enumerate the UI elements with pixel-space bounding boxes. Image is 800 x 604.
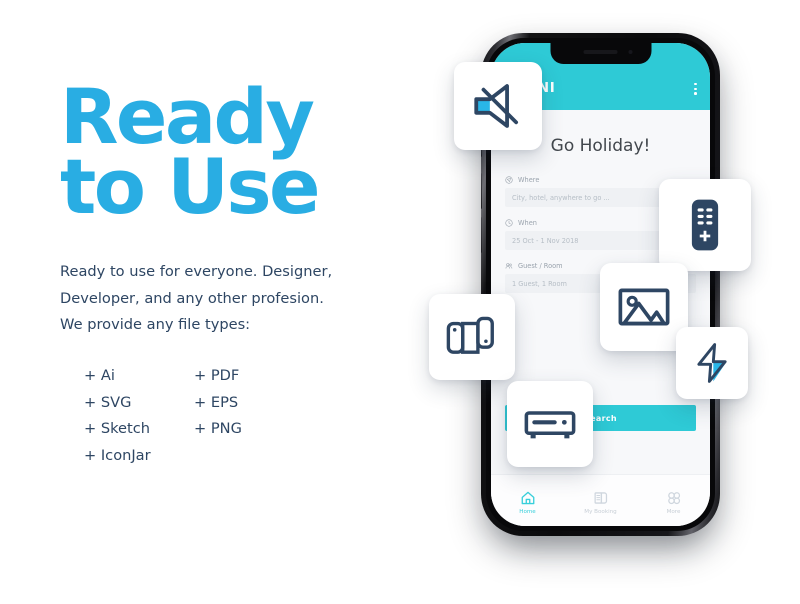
- guest-icon: [505, 262, 513, 270]
- icon-card-flash[interactable]: [676, 327, 748, 399]
- icon-card-image[interactable]: [600, 263, 688, 351]
- file-types-column-right: + PDF + EPS + PNG: [194, 363, 304, 470]
- list-item: + PDF: [194, 363, 304, 390]
- promo-column: Ready to Use Ready to use for everyone. …: [60, 82, 400, 470]
- list-item: + Sketch: [84, 416, 194, 443]
- tab-my-booking-label: My Booking: [584, 509, 617, 515]
- clock-icon: [505, 219, 513, 227]
- list-item: + SVG: [84, 390, 194, 417]
- promo-description: Ready to use for everyone. Designer, Dev…: [60, 259, 400, 339]
- file-types-column-left: + Ai + SVG + Sketch + IconJar: [84, 363, 194, 470]
- list-item: + PNG: [194, 416, 304, 443]
- phone-notch: [550, 43, 651, 64]
- field-when-label: When: [518, 219, 537, 227]
- tab-more-label: More: [667, 509, 681, 515]
- flash-icon: [691, 342, 733, 384]
- phone-volume-down-button[interactable]: [481, 217, 482, 253]
- bottom-tab-bar: Home My Booking: [491, 474, 710, 526]
- slide-canvas: Ready to Use Ready to use for everyone. …: [0, 0, 800, 604]
- tab-my-booking[interactable]: My Booking: [564, 475, 637, 526]
- tab-home[interactable]: Home: [491, 475, 564, 526]
- earpiece-speaker: [584, 50, 618, 54]
- icon-card-game-console[interactable]: [429, 294, 515, 380]
- list-item: + EPS: [194, 390, 304, 417]
- icon-card-remote-control[interactable]: [659, 179, 751, 271]
- overflow-menu-icon[interactable]: [694, 83, 697, 95]
- front-camera: [628, 50, 632, 54]
- tab-more[interactable]: More: [637, 475, 710, 526]
- icon-card-mute-speaker[interactable]: [454, 62, 542, 150]
- home-icon: [520, 490, 536, 506]
- tab-home-label: Home: [519, 509, 536, 515]
- field-where-label: Where: [518, 176, 539, 184]
- file-types-list: + Ai + SVG + Sketch + IconJar + PDF + EP…: [84, 363, 400, 470]
- icon-card-media-player[interactable]: [507, 381, 593, 467]
- list-item: + IconJar: [84, 443, 194, 470]
- image-icon: [616, 279, 672, 335]
- game-console-icon: [445, 310, 499, 364]
- list-item: + Ai: [84, 363, 194, 390]
- mute-speaker-icon: [469, 77, 527, 135]
- media-player-icon: [523, 397, 577, 451]
- grid-icon: [666, 490, 682, 506]
- page-title: Ready to Use: [60, 82, 400, 222]
- location-icon: [505, 176, 513, 184]
- phone-volume-up-button[interactable]: [481, 173, 482, 209]
- field-guest-label: Guest / Room: [518, 262, 563, 270]
- book-icon: [593, 490, 609, 506]
- remote-control-icon: [677, 197, 733, 253]
